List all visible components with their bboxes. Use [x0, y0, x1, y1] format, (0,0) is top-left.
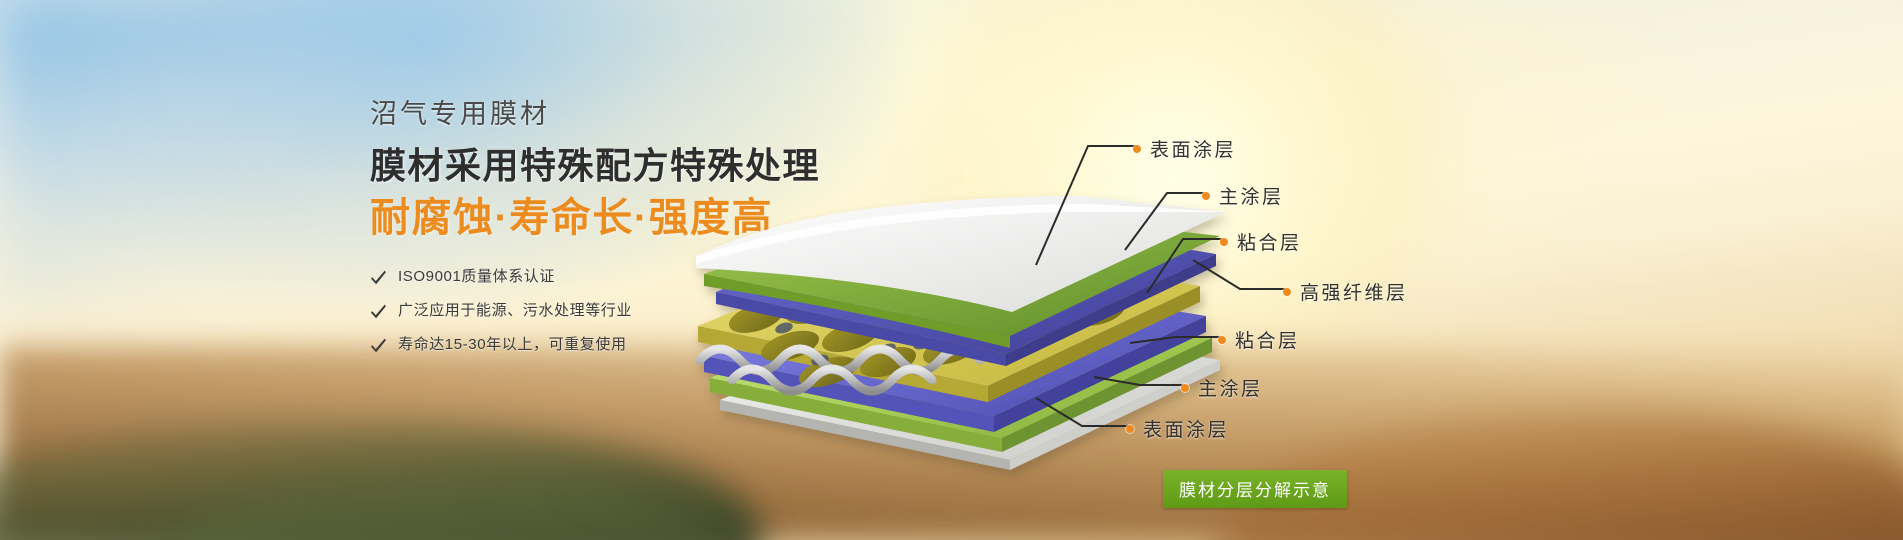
- leader-line-1: [1036, 146, 1135, 265]
- diagram-caption-badge: 膜材分层分解示意: [1163, 470, 1347, 508]
- callout-leader-lines: [0, 0, 1903, 540]
- banner-root: 沼气专用膜材 膜材采用特殊配方特殊处理 耐腐蚀·寿命长·强度高 ISO9001质…: [0, 0, 1903, 540]
